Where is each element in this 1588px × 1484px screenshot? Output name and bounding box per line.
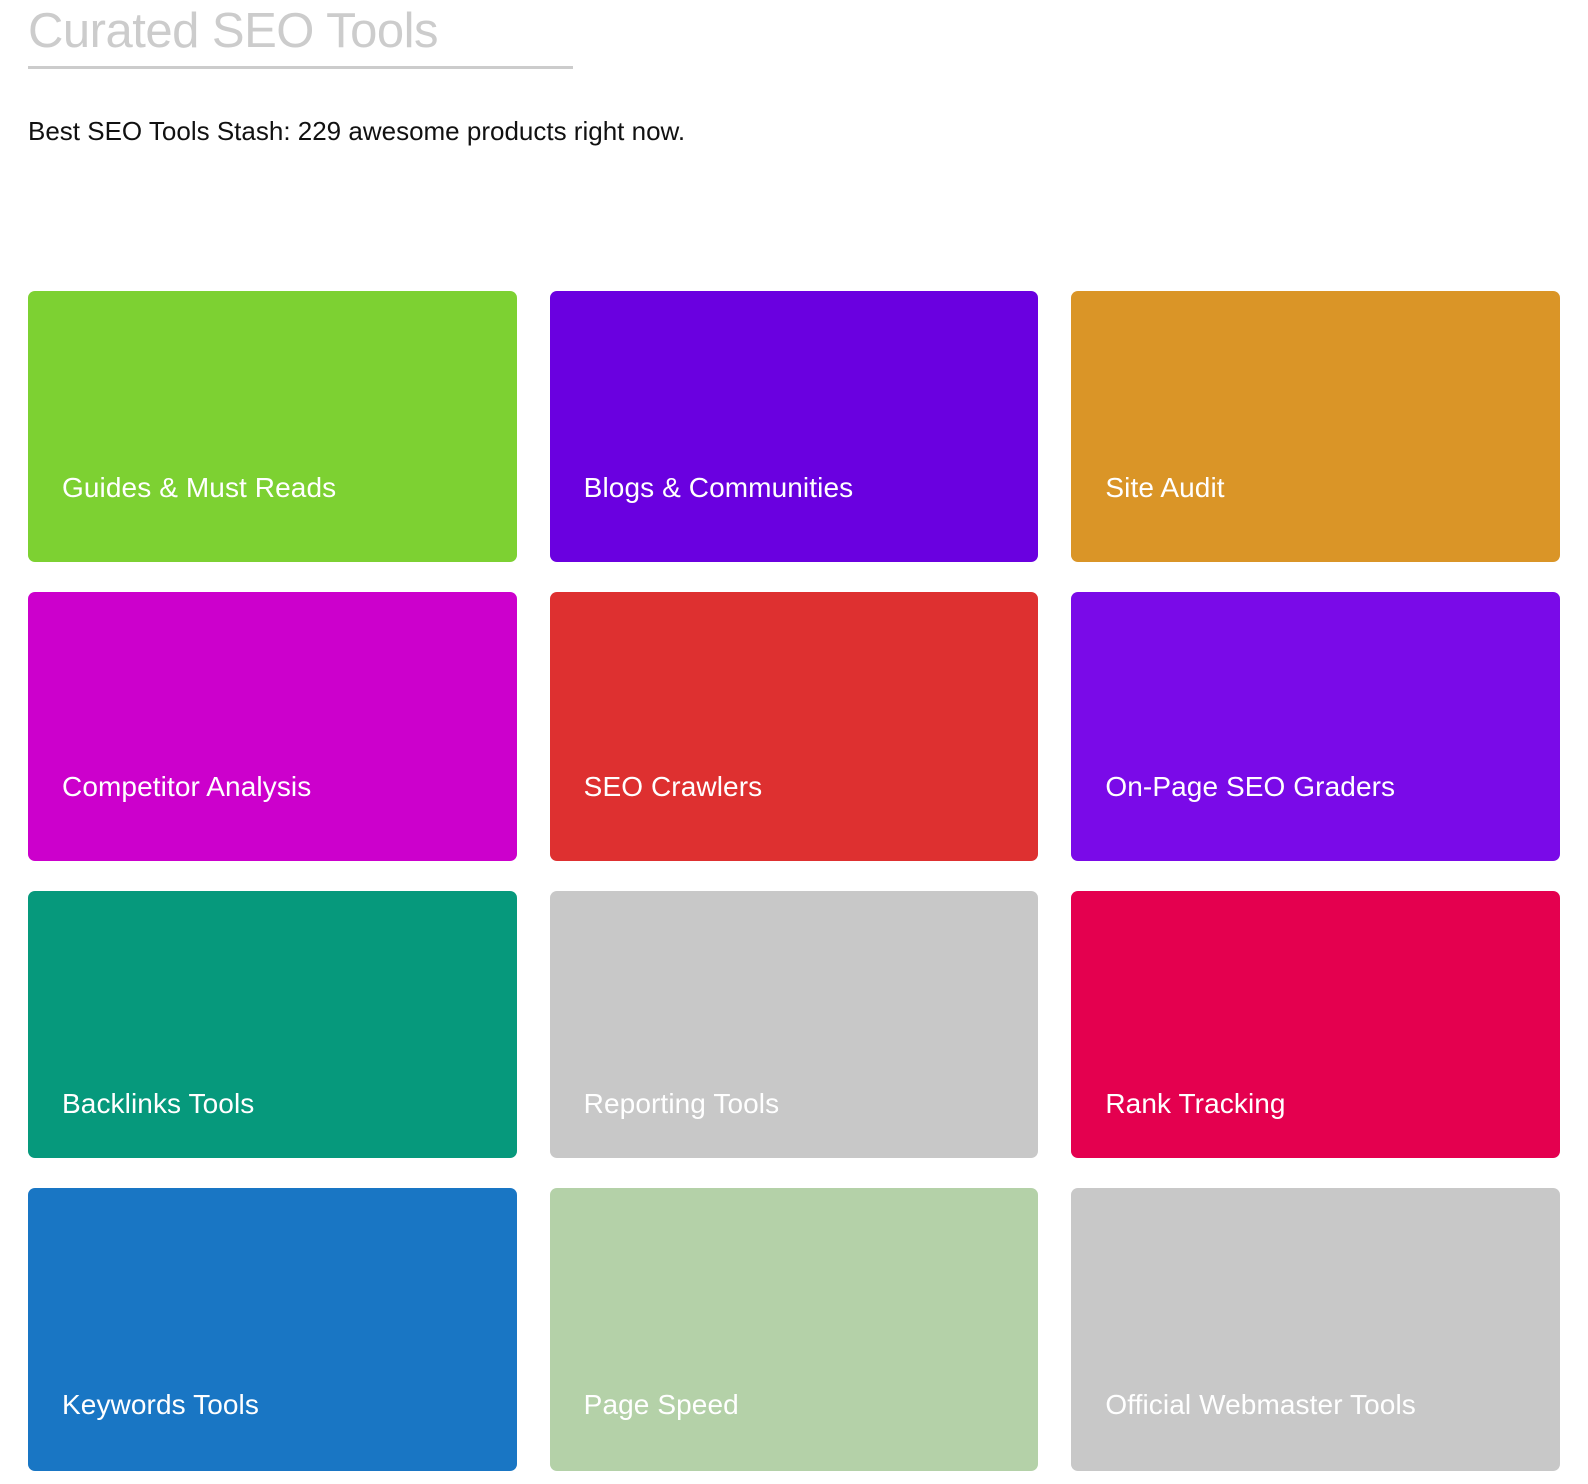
category-tile-label: Blogs & Communities: [550, 472, 874, 562]
category-tile-label: Rank Tracking: [1071, 1088, 1305, 1158]
category-tile-seo-crawlers[interactable]: SEO Crawlers: [550, 592, 1039, 861]
category-tile-rank-tracking[interactable]: Rank Tracking: [1071, 891, 1560, 1158]
category-tile-label: Reporting Tools: [550, 1088, 800, 1158]
category-tile-label: Keywords Tools: [28, 1389, 279, 1471]
category-tile-blogs-communities[interactable]: Blogs & Communities: [550, 291, 1039, 562]
category-tile-backlinks-tools[interactable]: Backlinks Tools: [28, 891, 517, 1158]
category-tile-keywords-tools[interactable]: Keywords Tools: [28, 1188, 517, 1471]
page-subtitle: Best SEO Tools Stash: 229 awesome produc…: [28, 113, 788, 150]
category-tile-grid: Guides & Must Reads Blogs & Communities …: [28, 291, 1560, 1484]
tile-row: Guides & Must Reads Blogs & Communities …: [28, 291, 1560, 562]
category-tile-label: On-Page SEO Graders: [1071, 771, 1415, 861]
category-tile-guides-must-reads[interactable]: Guides & Must Reads: [28, 291, 517, 562]
category-tile-page-speed[interactable]: Page Speed: [550, 1188, 1039, 1471]
tile-row: Competitor Analysis SEO Crawlers On-Page…: [28, 592, 1560, 861]
category-tile-label: Backlinks Tools: [28, 1088, 274, 1158]
page-title: Curated SEO Tools: [28, 0, 573, 69]
category-tile-label: Official Webmaster Tools: [1071, 1389, 1436, 1471]
category-tile-label: Site Audit: [1071, 472, 1244, 562]
tile-row: Keywords Tools Page Speed Official Webma…: [28, 1188, 1560, 1471]
category-tile-label: Guides & Must Reads: [28, 472, 356, 562]
page-header: Curated SEO Tools Best SEO Tools Stash: …: [28, 0, 1558, 150]
category-tile-reporting-tools[interactable]: Reporting Tools: [550, 891, 1039, 1158]
category-tile-on-page-seo-graders[interactable]: On-Page SEO Graders: [1071, 592, 1560, 861]
category-tile-site-audit[interactable]: Site Audit: [1071, 291, 1560, 562]
category-tile-label: Page Speed: [550, 1389, 759, 1471]
category-tile-competitor-analysis[interactable]: Competitor Analysis: [28, 592, 517, 861]
category-tile-label: SEO Crawlers: [550, 771, 783, 861]
category-tile-label: Competitor Analysis: [28, 771, 331, 861]
tile-row: Backlinks Tools Reporting Tools Rank Tra…: [28, 891, 1560, 1158]
curated-seo-tools-page: Curated SEO Tools Best SEO Tools Stash: …: [0, 0, 1588, 1484]
category-tile-official-webmaster-tools[interactable]: Official Webmaster Tools: [1071, 1188, 1560, 1471]
